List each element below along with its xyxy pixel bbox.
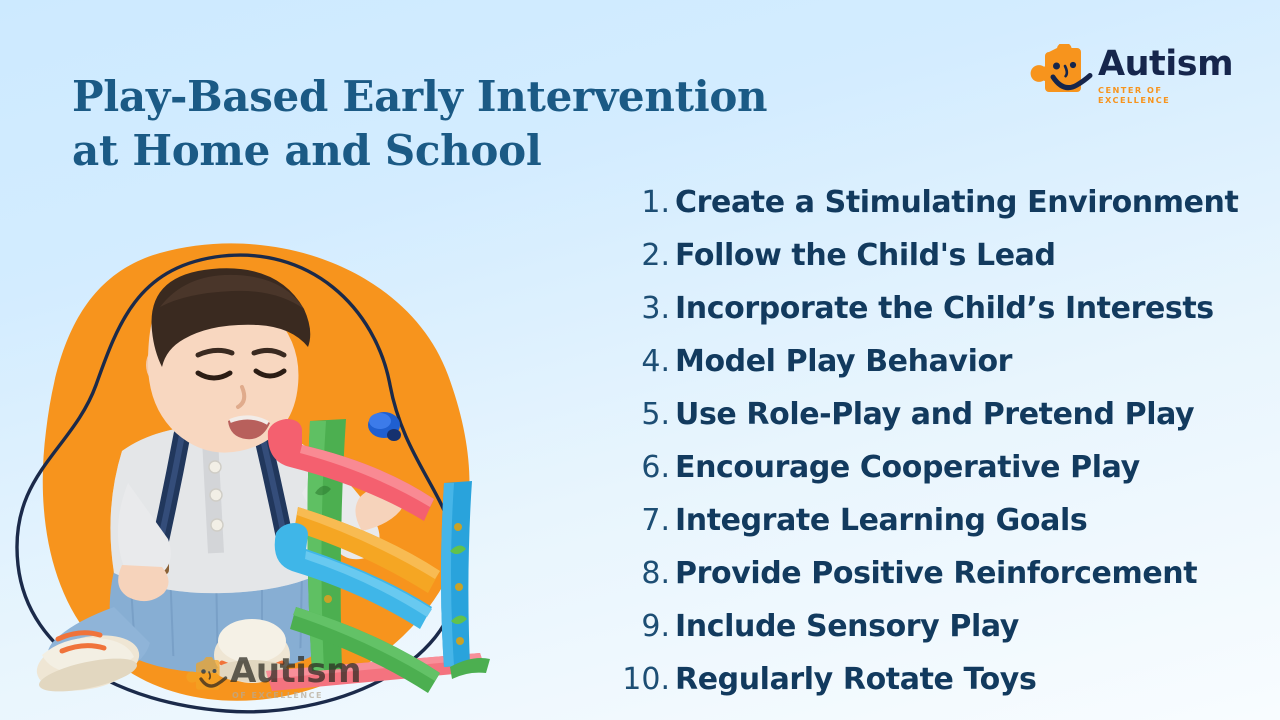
list-item-label: Incorporate the Child’s Interests	[675, 282, 1214, 335]
page-title: Play-Based Early Intervention at Home an…	[72, 70, 892, 178]
list-item: 4. Model Play Behavior	[600, 335, 1280, 388]
list-item-number: 4.	[600, 335, 670, 388]
tips-list: 1. Create a Stimulating Environment 2. F…	[560, 176, 1280, 706]
list-item: 6. Encourage Cooperative Play	[600, 441, 1280, 494]
list-item-number: 3.	[600, 282, 670, 335]
list-item: 7. Integrate Learning Goals	[600, 494, 1280, 547]
list-item: 8. Provide Positive Reinforcement	[600, 547, 1280, 600]
brand-logo[interactable]: Autism CENTER OF EXCELLENCE	[1030, 42, 1230, 110]
list-item: 9. Include Sensory Play	[600, 600, 1280, 653]
list-item-number: 2.	[600, 229, 670, 282]
list-item-label: Model Play Behavior	[675, 335, 1012, 388]
brand-name: Autism	[1098, 46, 1230, 82]
brand-wordmark: Autism CENTER OF EXCELLENCE	[1098, 46, 1230, 105]
list-item-label: Regularly Rotate Toys	[675, 653, 1036, 706]
list-item-label: Use Role-Play and Pretend Play	[675, 388, 1194, 441]
list-item: 1. Create a Stimulating Environment	[600, 176, 1280, 229]
toy-car	[368, 412, 401, 441]
child-playing-illustration	[10, 235, 540, 720]
list-item-label: Include Sensory Play	[675, 600, 1019, 653]
page-title-line-2: at Home and School	[72, 124, 892, 178]
list-item-number: 5.	[600, 388, 670, 441]
list-item-label: Follow the Child's Lead	[675, 229, 1056, 282]
list-item-number: 10.	[600, 653, 670, 706]
brand-tagline: CENTER OF EXCELLENCE	[1098, 85, 1230, 105]
hero-photo	[10, 235, 540, 720]
list-item-number: 9.	[600, 600, 670, 653]
list-item-label: Provide Positive Reinforcement	[675, 547, 1197, 600]
list-item-number: 8.	[600, 547, 670, 600]
list-item-number: 1.	[600, 176, 670, 229]
list-item-label: Integrate Learning Goals	[675, 494, 1087, 547]
list-item: 2. Follow the Child's Lead	[600, 229, 1280, 282]
list-item: 10. Regularly Rotate Toys	[600, 653, 1280, 706]
page-title-line-1: Play-Based Early Intervention	[72, 70, 892, 124]
list-item: 5. Use Role-Play and Pretend Play	[600, 388, 1280, 441]
list-item-number: 7.	[600, 494, 670, 547]
slide-canvas: Play-Based Early Intervention at Home an…	[0, 0, 1280, 720]
list-item: 3. Incorporate the Child’s Interests	[600, 282, 1280, 335]
puzzle-piece-smiley-icon	[1030, 44, 1094, 104]
list-item-label: Create a Stimulating Environment	[675, 176, 1238, 229]
list-item-label: Encourage Cooperative Play	[675, 441, 1140, 494]
list-item-number: 6.	[600, 441, 670, 494]
